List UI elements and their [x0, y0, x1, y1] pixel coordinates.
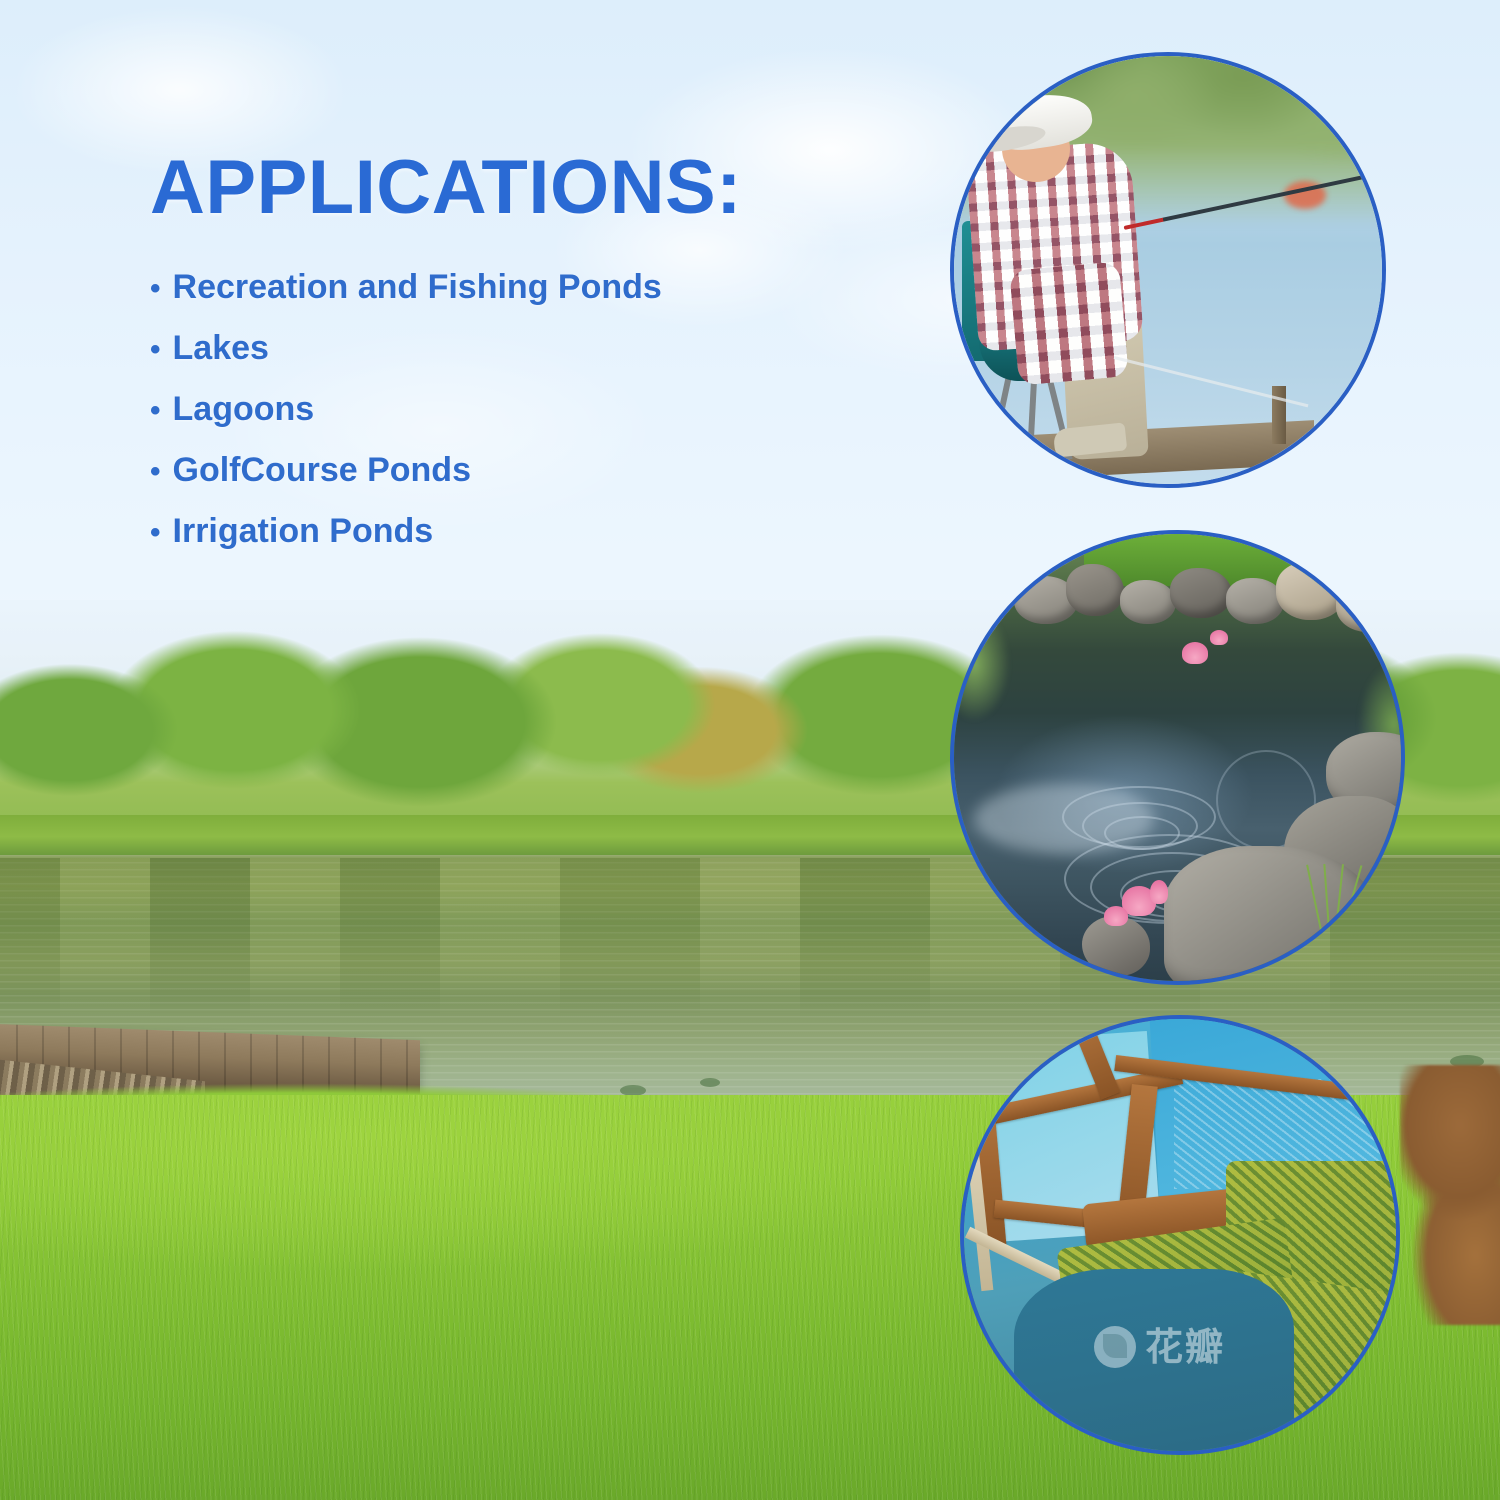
- c2-water-lily: [1104, 906, 1128, 926]
- bullet-dot-icon: •: [150, 396, 161, 426]
- c2-water-lily: [1210, 630, 1228, 645]
- bullet-dot-icon: •: [150, 274, 161, 304]
- list-item-label: Lagoons: [173, 390, 315, 429]
- list-item: • Lagoons: [150, 390, 910, 429]
- applications-list: • Recreation and Fishing Ponds • Lakes •…: [150, 268, 910, 573]
- watermark-text: 花瓣: [1145, 1328, 1225, 1366]
- list-item-label: Recreation and Fishing Ponds: [173, 268, 662, 307]
- list-item-label: Irrigation Ponds: [173, 512, 434, 551]
- c2-rock: [1066, 564, 1124, 616]
- applications-poster: APPLICATIONS: • Recreation and Fishing P…: [0, 0, 1500, 1500]
- watermark: 花瓣: [1094, 1319, 1284, 1375]
- bullet-dot-icon: •: [150, 518, 161, 548]
- petal-leaf-icon: [1094, 1326, 1136, 1368]
- list-item: • GolfCourse Ponds: [150, 451, 910, 490]
- photo-dirt-patch: [1400, 1065, 1500, 1325]
- c1-dock-post: [1272, 386, 1286, 444]
- list-item-label: GolfCourse Ponds: [173, 451, 471, 490]
- c2-rock: [1170, 568, 1232, 618]
- c2-water-lily: [1150, 880, 1168, 904]
- c2-reeds: [1310, 864, 1370, 954]
- c2-water-lily: [1182, 642, 1208, 664]
- page-title: APPLICATIONS:: [150, 150, 742, 226]
- c1-plaid-shirt-lower: [1009, 261, 1129, 385]
- circle-photo-ornamental-koi-pond: [950, 530, 1405, 985]
- list-item: • Lakes: [150, 329, 910, 368]
- bullet-dot-icon: •: [150, 335, 161, 365]
- circle-photo-aerial-irrigation-ponds: 花瓣: [960, 1015, 1400, 1455]
- bullet-dot-icon: •: [150, 457, 161, 487]
- list-item-label: Lakes: [173, 329, 269, 368]
- list-item: • Irrigation Ponds: [150, 512, 910, 551]
- list-item: • Recreation and Fishing Ponds: [150, 268, 910, 307]
- c2-rock: [1120, 580, 1176, 624]
- circle-photo-angler-fishing-from-dock: [950, 52, 1386, 488]
